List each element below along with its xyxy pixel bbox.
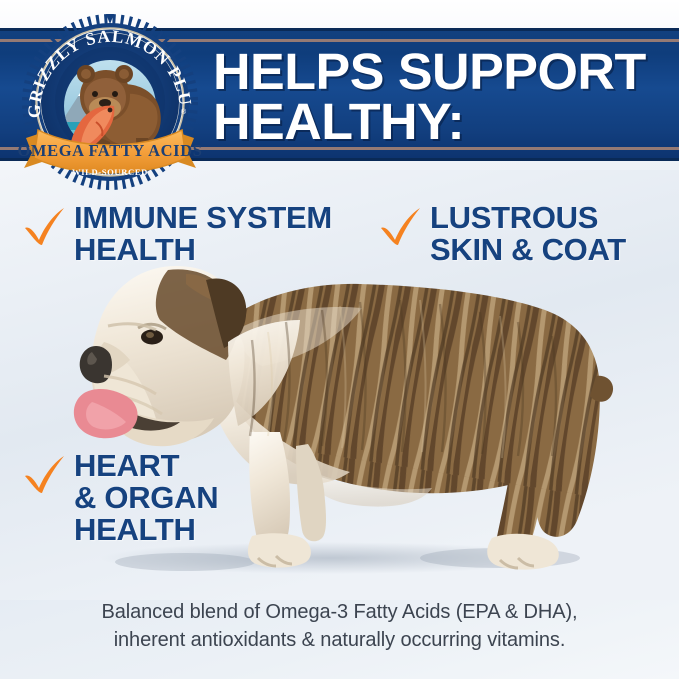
check-icon — [22, 452, 66, 496]
benefit-label: HEART & ORGAN HEALTH — [74, 450, 218, 546]
benefit-item-immune: IMMUNE SYSTEM HEALTH — [22, 202, 332, 266]
benefit-item-skin-coat: LUSTROUS SKIN & COAT — [378, 202, 626, 266]
product-description-caption: Balanced blend of Omega-3 Fatty Acids (E… — [0, 598, 679, 655]
benefit-label: IMMUNE SYSTEM HEALTH — [74, 202, 332, 266]
page-title-line2: HEALTHY: — [213, 97, 679, 147]
check-icon — [22, 204, 66, 248]
brand-logo: GRIZZLY SALMON PLUS ® — [18, 10, 202, 190]
page-title-line1: HELPS SUPPORT — [213, 43, 646, 100]
check-icon — [378, 204, 422, 248]
benefit-label: LUSTROUS SKIN & COAT — [430, 202, 626, 266]
benefit-item-heart-organ: HEART & ORGAN HEALTH — [22, 450, 218, 546]
product-benefits-graphic: HELPS SUPPORT HEALTHY: — [0, 0, 679, 679]
logo-ribbon-text: OMEGA FATTY ACIDS — [18, 141, 202, 160]
logo-wild-sourced-text: WILD-SOURCED — [72, 167, 148, 177]
registered-mark-icon: ® — [181, 108, 187, 116]
page-title: HELPS SUPPORT HEALTHY: — [213, 47, 679, 147]
